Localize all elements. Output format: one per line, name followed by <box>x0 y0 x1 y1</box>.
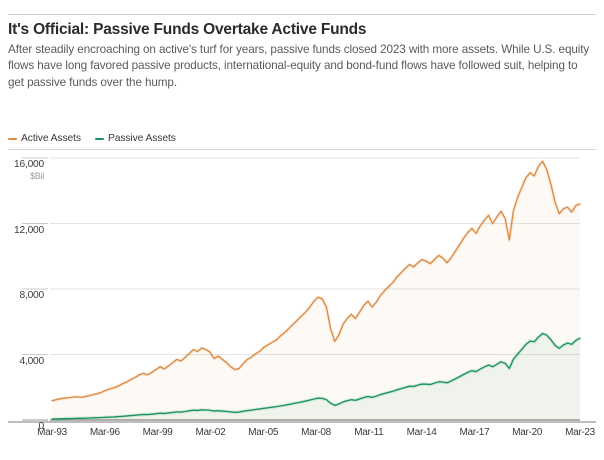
x-axis-tick-label: Mar-14 <box>396 427 448 438</box>
x-axis-tick-label: Mar-17 <box>448 427 500 438</box>
chart-svg <box>0 150 604 450</box>
x-axis-tick-label: Mar-08 <box>290 427 342 438</box>
x-axis-tick-label: Mar-05 <box>237 427 289 438</box>
x-axis-tick-label: Mar-11 <box>343 427 395 438</box>
x-axis-tick-label: Mar-93 <box>26 427 78 438</box>
x-axis-tick-label: Mar-99 <box>132 427 184 438</box>
legend-label-active: Active Assets <box>21 133 81 144</box>
legend-swatch-passive-icon <box>95 138 104 140</box>
y-axis-tick-label: 12,000 <box>0 225 44 236</box>
chart-legend: Active Assets Passive Assets <box>8 133 176 144</box>
y-axis-unit-label: $Bil <box>0 171 44 181</box>
y-axis-tick-label: 4,000 <box>0 356 44 367</box>
legend-item-active[interactable]: Active Assets <box>8 133 81 144</box>
chart-page: It's Official: Passive Funds Overtake Ac… <box>0 0 604 460</box>
y-axis-tick-label: 8,000 <box>0 290 44 301</box>
page-title: It's Official: Passive Funds Overtake Ac… <box>8 20 588 39</box>
top-divider <box>8 14 596 15</box>
page-subtitle: After steadily encroaching on active's t… <box>8 42 590 91</box>
x-axis-tick-label: Mar-96 <box>79 427 131 438</box>
y-axis-tick-label: 16,000 <box>0 159 44 170</box>
line-chart: 04,0008,00012,00016,000$BilMar-93Mar-96M… <box>0 150 604 450</box>
legend-swatch-active-icon <box>8 138 17 140</box>
x-axis-tick-label: Mar-23 <box>554 427 604 438</box>
x-axis-tick-label: Mar-20 <box>501 427 553 438</box>
legend-label-passive: Passive Assets <box>108 133 176 144</box>
x-axis-tick-label: Mar-02 <box>184 427 236 438</box>
legend-item-passive[interactable]: Passive Assets <box>95 133 176 144</box>
